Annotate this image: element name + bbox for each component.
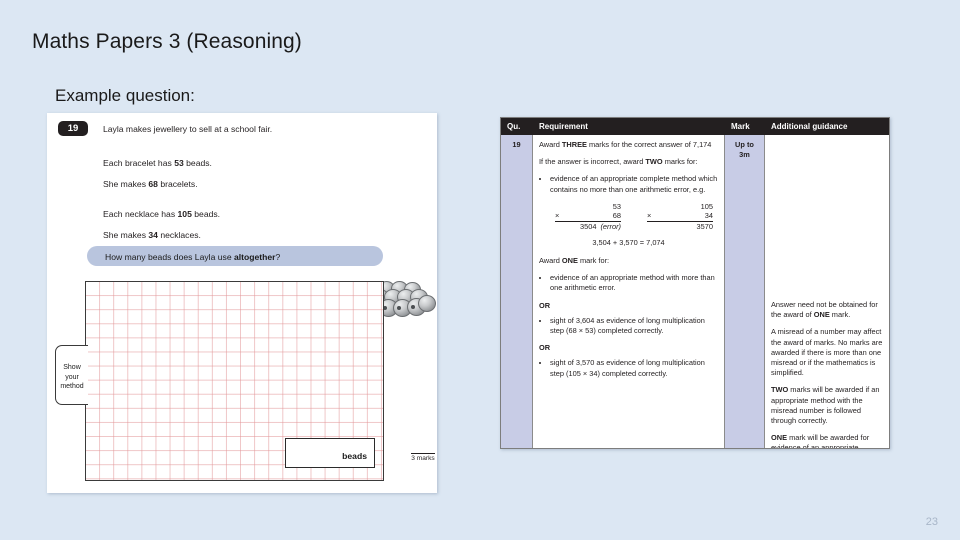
question-prompt-bar: How many beads does Layla use altogether… [87, 246, 383, 266]
cell-question-number: 19 [501, 135, 533, 448]
requirement-bullets-one-mark-a: evidence of an appropriate method with m… [539, 273, 718, 293]
sum-right-operator: × [647, 211, 651, 221]
sum-left-note: (error) [600, 222, 621, 232]
sum-right-operand2: 34 [705, 211, 713, 221]
page-title: Maths Papers 3 (Reasoning) [32, 30, 302, 54]
question-line-bracelet-count: She makes 68 bracelets. [103, 179, 198, 189]
requirement-or-2: OR [539, 343, 718, 353]
requirement-bullet-3: sight of 3,604 as evidence of long multi… [550, 316, 718, 336]
sum-right-result: 3570 [697, 222, 713, 232]
requirement-para-3: Award ONE mark for: [539, 256, 718, 266]
sum-left-result: 3504 [580, 222, 596, 232]
marks-label: 3 marks [411, 455, 434, 462]
marks-rule [411, 453, 435, 454]
guidance-para-4: ONE mark will be awarded for evidence of… [771, 433, 883, 448]
requirement-bullet-2: evidence of an appropriate method with m… [550, 273, 718, 293]
question-number-badge: 19 [58, 121, 88, 136]
sum-right-operand1: 105 [701, 202, 713, 212]
cell-requirement: Award THREE marks for the correct answer… [533, 135, 725, 448]
sum-left-operand1: 53 [613, 202, 621, 212]
requirement-para-1: Award THREE marks for the correct answer… [539, 140, 718, 150]
sum-left-operator: × [555, 211, 559, 221]
sum-right: 105 ×34 3570 [647, 202, 713, 232]
sum-total-line: 3,504 + 3,570 = 7,074 [539, 238, 718, 248]
requirement-or-1: OR [539, 301, 718, 311]
mark-scheme-header-row: Qu. Requirement Mark Additional guidance [501, 118, 889, 135]
question-line-intro: Layla makes jewellery to sell at a schoo… [103, 124, 272, 134]
question-line-necklace-count: She makes 34 necklaces. [103, 230, 201, 240]
requirement-bullet-1: evidence of an appropriate complete meth… [550, 174, 718, 194]
column-header-qu: Qu. [501, 118, 533, 135]
page-number: 23 [926, 516, 938, 528]
subtitle: Example question: [55, 86, 195, 106]
marks-available-note: 3 marks [403, 453, 443, 462]
column-header-additional-guidance: Additional guidance [765, 118, 889, 135]
cell-mark: Up to 3m [725, 135, 765, 448]
column-header-requirement: Requirement [533, 118, 725, 135]
mark-scheme-row: 19 Award THREE marks for the correct ans… [501, 135, 889, 448]
question-line-necklace-beads: Each necklace has 105 beads. [103, 209, 220, 219]
question-paper-card: 19 Layla makes jewellery to sell at a sc… [47, 113, 437, 493]
requirement-bullet-4: sight of 3,570 as evidence of long multi… [550, 358, 718, 378]
requirement-para-2: If the answer is incorrect, award TWO ma… [539, 157, 718, 167]
question-prompt-text: How many beads does Layla use altogether… [105, 252, 280, 262]
long-multiplication-examples: 53 ×68 3504(error) 105 ×34 3570 [555, 202, 718, 232]
guidance-para-2: A misread of a number may affect the awa… [771, 327, 883, 378]
requirement-bullets-two-marks: evidence of an appropriate complete meth… [539, 174, 718, 194]
column-header-mark: Mark [725, 118, 765, 135]
mark-value-line-1: Up to [731, 140, 758, 150]
requirement-bullets-one-mark-c: sight of 3,570 as evidence of long multi… [539, 358, 718, 378]
guidance-para-3: TWO marks will be awarded if an appropri… [771, 385, 883, 426]
mark-scheme-table: Qu. Requirement Mark Additional guidance… [500, 117, 890, 449]
requirement-bullets-one-mark-b: sight of 3,604 as evidence of long multi… [539, 316, 718, 336]
cell-additional-guidance: Answer need not be obtained for the awar… [765, 135, 889, 448]
answer-unit-label: beads [342, 451, 367, 461]
sum-left-operand2: 68 [613, 211, 621, 221]
mark-value-line-2: 3m [731, 150, 758, 160]
answer-input-box[interactable]: beads [285, 438, 375, 468]
question-line-bracelet-beads: Each bracelet has 53 beads. [103, 158, 212, 168]
guidance-para-1: Answer need not be obtained for the awar… [771, 300, 883, 320]
show-your-method-tab: Show your method [55, 345, 88, 405]
sum-left: 53 ×68 3504(error) [555, 202, 621, 232]
